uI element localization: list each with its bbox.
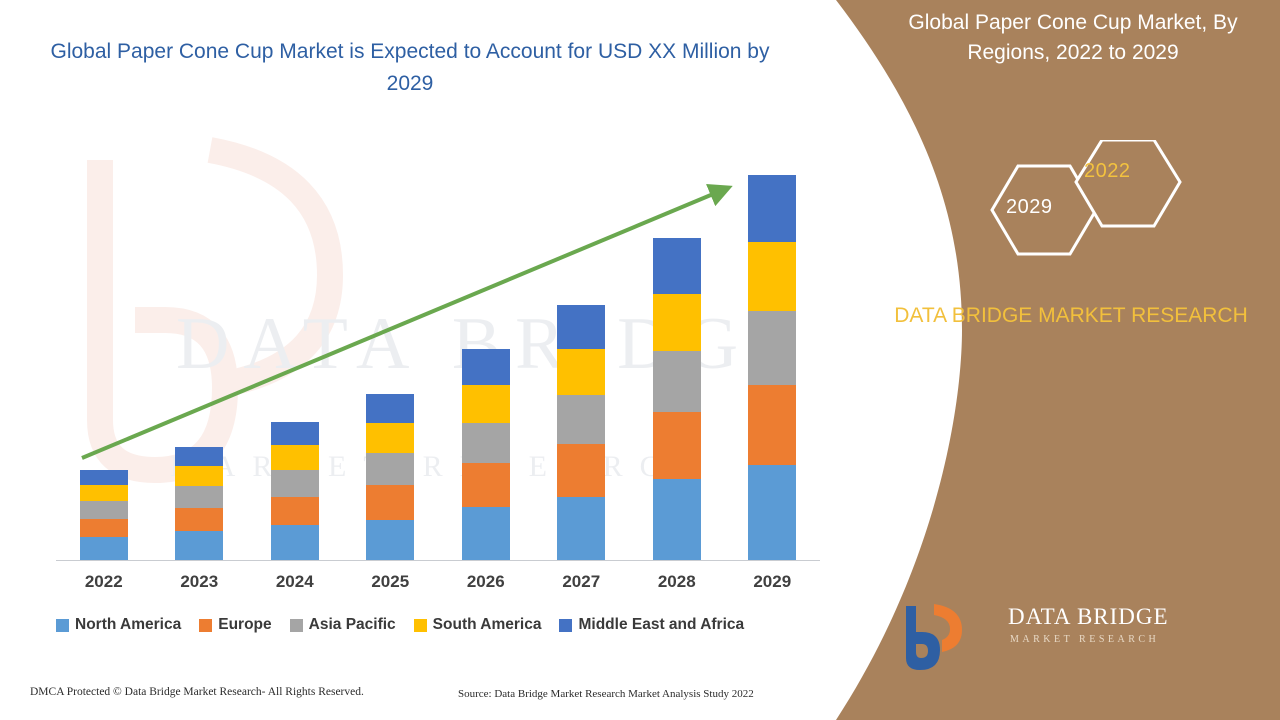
footer-source: Source: Data Bridge Market Research Mark… xyxy=(458,688,754,700)
bar-segment xyxy=(80,519,128,537)
right-panel-content: Global Paper Cone Cup Market, By Regions… xyxy=(850,0,1280,720)
bar-column xyxy=(748,175,796,560)
dbmr-logo-mark xyxy=(890,598,1000,678)
bar-segment xyxy=(557,444,605,497)
x-axis-labels: 20222023202420252026202720282029 xyxy=(56,572,820,602)
x-axis-tick-label: 2028 xyxy=(629,572,725,592)
bar-segment xyxy=(557,497,605,560)
bar-segment xyxy=(80,537,128,560)
chart-area: Global Paper Cone Cup Market is Expected… xyxy=(0,0,860,720)
bar-segment xyxy=(462,423,510,463)
bar-segment xyxy=(653,479,701,560)
x-axis-tick-label: 2024 xyxy=(247,572,343,592)
bar-column xyxy=(653,238,701,560)
bar-segment xyxy=(557,395,605,443)
legend-label: Europe xyxy=(218,616,271,634)
bar-column xyxy=(80,470,128,560)
brand-name: DATA BRIDGE MARKET RESEARCH xyxy=(874,300,1268,331)
stacked-bar-plot xyxy=(56,150,820,560)
hexagon-2022-shape xyxy=(1076,140,1180,226)
bar-segment xyxy=(80,485,128,501)
dbmr-logo-subtext: MARKET RESEARCH xyxy=(1010,634,1159,645)
bar-segment xyxy=(462,463,510,507)
bar-segment xyxy=(80,501,128,518)
x-axis-tick-label: 2026 xyxy=(438,572,534,592)
bar-segment xyxy=(366,485,414,520)
bar-segment xyxy=(175,466,223,487)
bar-column xyxy=(366,394,414,560)
bar-segment xyxy=(271,497,319,526)
dbmr-logo: DATA BRIDGE MARKET RESEARCH xyxy=(890,598,1250,678)
bar-segment xyxy=(748,175,796,242)
bar-segment xyxy=(366,520,414,560)
legend-label: Asia Pacific xyxy=(309,616,396,634)
bar-segment xyxy=(462,385,510,423)
x-axis-line xyxy=(56,560,820,561)
hexagon-2022-label: 2022 xyxy=(1084,160,1131,183)
bar-column xyxy=(175,447,223,560)
bar-segment xyxy=(80,470,128,485)
panel-title: Global Paper Cone Cup Market, By Regions… xyxy=(880,8,1266,68)
legend-label: North America xyxy=(75,616,181,634)
legend-item: Europe xyxy=(199,616,271,634)
bar-segment xyxy=(271,422,319,445)
x-axis-tick-label: 2023 xyxy=(151,572,247,592)
legend-swatch xyxy=(56,619,69,632)
bar-segment xyxy=(271,445,319,470)
bar-segment xyxy=(462,349,510,385)
bar-segment xyxy=(175,486,223,508)
legend-swatch xyxy=(290,619,303,632)
x-axis-tick-label: 2022 xyxy=(56,572,152,592)
legend-swatch xyxy=(199,619,212,632)
bar-segment xyxy=(366,423,414,453)
bar-segment xyxy=(653,238,701,293)
bar-segment xyxy=(366,394,414,423)
hexagon-graphic: 2029 2022 xyxy=(980,140,1280,280)
bar-segment xyxy=(653,412,701,479)
x-axis-tick-label: 2027 xyxy=(533,572,629,592)
bar-segment xyxy=(557,305,605,349)
bar-segment xyxy=(175,508,223,531)
bar-segment xyxy=(175,531,223,560)
bar-segment xyxy=(748,311,796,385)
legend-item: North America xyxy=(56,616,181,634)
x-axis-tick-label: 2025 xyxy=(342,572,438,592)
bar-segment xyxy=(557,349,605,395)
x-axis-tick-label: 2029 xyxy=(724,572,820,592)
bar-column xyxy=(462,349,510,560)
bar-column xyxy=(557,305,605,560)
legend-swatch xyxy=(414,619,427,632)
bar-segment xyxy=(462,507,510,560)
bar-segment xyxy=(653,351,701,412)
chart-title: Global Paper Cone Cup Market is Expected… xyxy=(40,36,780,100)
legend-swatch xyxy=(559,619,572,632)
legend-item: South America xyxy=(414,616,542,634)
legend-item: Asia Pacific xyxy=(290,616,396,634)
bar-segment xyxy=(748,385,796,466)
hexagon-2029-label: 2029 xyxy=(1006,196,1053,219)
bar-segment xyxy=(366,453,414,485)
bar-segment xyxy=(653,294,701,352)
legend-label: South America xyxy=(433,616,542,634)
legend-item: Middle East and Africa xyxy=(559,616,744,634)
legend-label: Middle East and Africa xyxy=(578,616,744,634)
dbmr-logo-text: DATA BRIDGE xyxy=(1008,604,1169,630)
bar-column xyxy=(271,422,319,560)
bar-segment xyxy=(748,242,796,311)
bar-segment xyxy=(271,470,319,497)
bar-segment xyxy=(175,447,223,465)
bar-segment xyxy=(271,525,319,560)
chart-legend: North AmericaEuropeAsia PacificSouth Ame… xyxy=(56,616,846,634)
footer-copyright: DMCA Protected © Data Bridge Market Rese… xyxy=(30,686,364,698)
bar-segment xyxy=(748,465,796,560)
